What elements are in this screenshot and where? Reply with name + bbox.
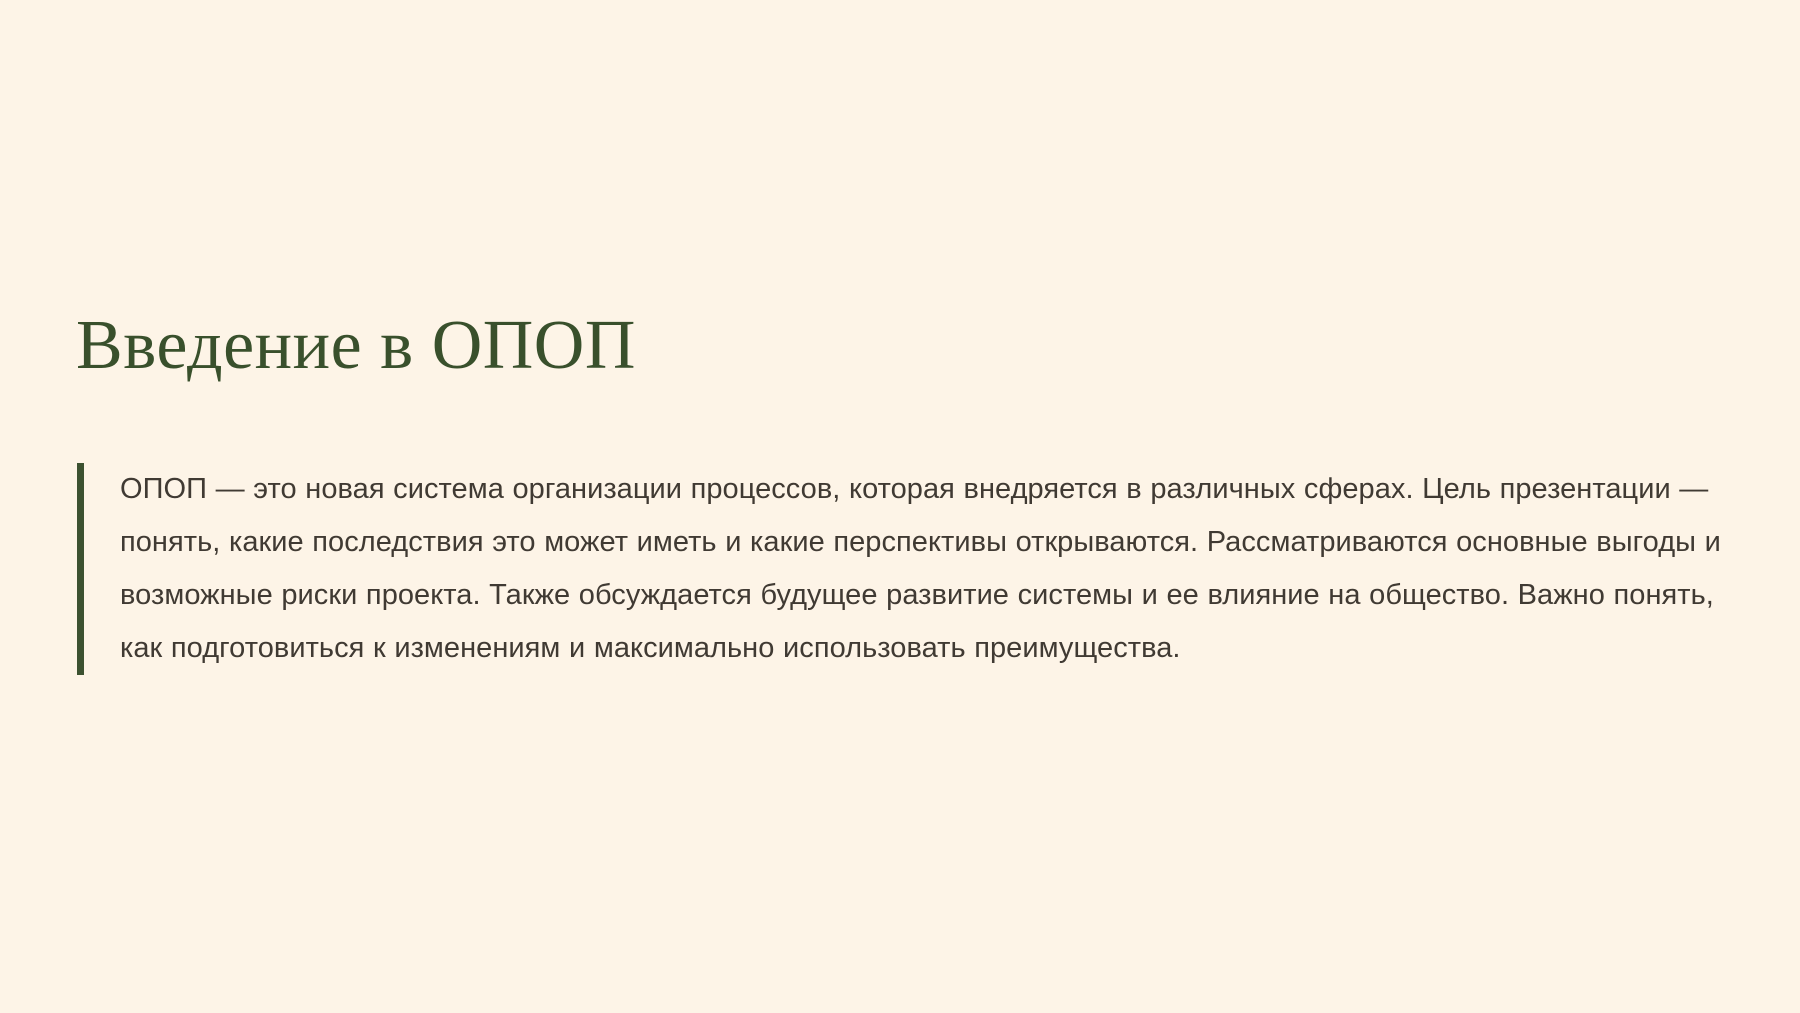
left-accent-bar xyxy=(77,463,84,675)
slide-title: Введение в ОПОП xyxy=(76,311,636,381)
body-paragraph: ОПОП — это новая система организации про… xyxy=(120,463,1739,675)
body-text-container: ОПОП — это новая система организации про… xyxy=(84,463,1739,675)
presentation-slide: Введение в ОПОП ОПОП — это новая система… xyxy=(0,0,1800,1013)
body-content-block: ОПОП — это новая система организации про… xyxy=(77,463,1739,675)
